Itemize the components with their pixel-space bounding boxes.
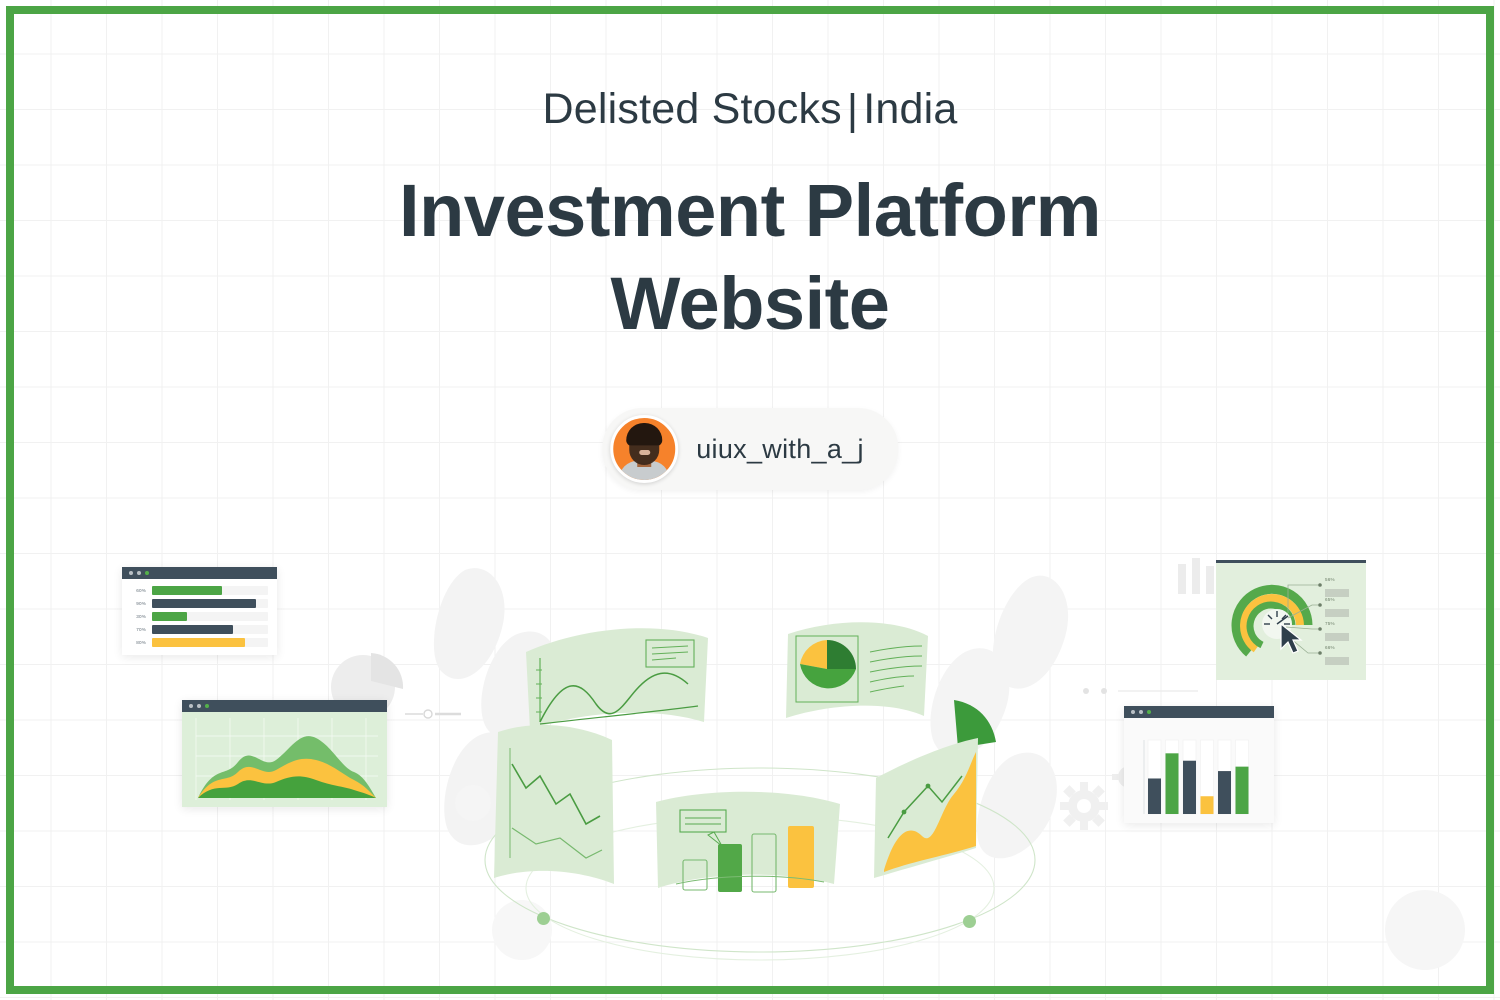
stat-fill — [152, 625, 233, 634]
stats-bars-window[interactable]: 60%90%30%70%80% — [122, 567, 277, 655]
decor-connector-line — [405, 705, 463, 723]
donut-legend-label: 66% — [1325, 645, 1335, 650]
window-maximize-dot — [205, 704, 209, 708]
poster-header: Delisted Stocks|India Investment Platfor… — [0, 88, 1500, 350]
window-minimize-dot — [137, 571, 141, 575]
carousel-dot-right — [963, 915, 976, 928]
eyebrow: Delisted Stocks|India — [0, 88, 1500, 131]
bar-chart-body — [1124, 718, 1274, 823]
page-title: Investment Platform Website — [0, 165, 1500, 350]
carousel-card-area[interactable] — [866, 690, 996, 880]
window-close-dot — [1131, 710, 1135, 714]
eyebrow-right: India — [863, 85, 957, 133]
stat-label: 70% — [131, 627, 146, 632]
stat-row: 90% — [131, 599, 268, 608]
decor-dot-row — [1082, 684, 1202, 698]
donut-analytics-panel[interactable]: 56%65%75%66% — [1216, 560, 1366, 680]
bar — [1201, 796, 1214, 814]
window-maximize-dot — [145, 571, 149, 575]
bar — [1166, 753, 1179, 814]
carousel-card-bars[interactable] — [652, 788, 844, 906]
stat-row: 60% — [131, 586, 268, 595]
bar-chart — [1124, 718, 1274, 823]
dot-decor-2 — [1385, 890, 1465, 970]
bar — [1236, 767, 1249, 814]
donut-legend-label: 75% — [1325, 621, 1335, 626]
stat-track — [152, 599, 268, 608]
bar — [1183, 761, 1196, 814]
donut-legend-label: 65% — [1325, 597, 1335, 602]
window-titlebar — [1124, 706, 1274, 718]
stat-label: 60% — [131, 588, 146, 593]
window-minimize-dot — [1139, 710, 1143, 714]
stat-track — [152, 638, 268, 647]
stat-row: 30% — [131, 612, 268, 621]
author-name: uiux_with_a_j — [696, 434, 864, 465]
stacked-area-chart — [182, 712, 387, 807]
title-line-2: Website — [611, 262, 890, 345]
window-titlebar — [122, 567, 277, 579]
stat-fill — [152, 638, 245, 647]
stat-track — [152, 625, 268, 634]
donut-legend-label: 56% — [1325, 577, 1335, 582]
stat-track — [152, 612, 268, 621]
area-chart-body — [182, 712, 387, 807]
stat-label: 80% — [131, 640, 146, 645]
window-minimize-dot — [197, 704, 201, 708]
stat-fill — [152, 612, 187, 621]
cursor-pointer-icon — [1278, 622, 1306, 656]
author-badge[interactable]: uiux_with_a_j — [602, 408, 898, 490]
stats-bars-body: 60%90%30%70%80% — [122, 579, 277, 655]
bar-chart-window[interactable] — [1124, 706, 1274, 823]
stat-fill — [152, 586, 222, 595]
avatar — [610, 415, 678, 483]
title-line-1: Investment Platform — [399, 169, 1101, 252]
poster-canvas: Delisted Stocks|India Investment Platfor… — [0, 0, 1500, 1000]
stat-label: 30% — [131, 614, 146, 619]
bar — [1148, 778, 1161, 814]
window-titlebar — [182, 700, 387, 712]
stat-row: 70% — [131, 625, 268, 634]
bar — [1218, 771, 1231, 814]
area-chart-window[interactable] — [182, 700, 387, 807]
stat-fill — [152, 599, 256, 608]
window-close-dot — [129, 571, 133, 575]
stat-label: 90% — [131, 601, 146, 606]
window-close-dot — [189, 704, 193, 708]
carousel-card-line[interactable] — [522, 612, 712, 740]
stat-track — [152, 586, 268, 595]
stat-row: 80% — [131, 638, 268, 647]
eyebrow-divider: | — [847, 89, 858, 132]
window-maximize-dot — [1147, 710, 1151, 714]
gear-icon-large — [1060, 782, 1108, 830]
eyebrow-left: Delisted Stocks — [543, 85, 842, 133]
carousel-card-downtrend[interactable] — [482, 718, 632, 918]
